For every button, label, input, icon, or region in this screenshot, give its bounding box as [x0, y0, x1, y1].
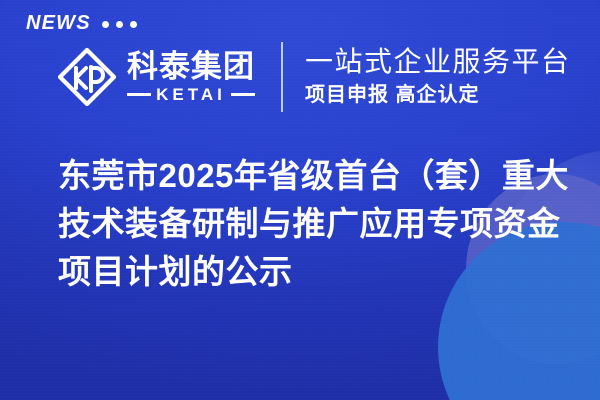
- wordmark-rule-left: [127, 93, 151, 96]
- headline-line-3: 项目计划的公示: [58, 248, 568, 296]
- bullet-dot-icon: [102, 21, 109, 28]
- brand-name-en: KETAI: [156, 86, 226, 103]
- wordmark-rule-right: [231, 93, 255, 96]
- vertical-divider: [281, 42, 283, 112]
- brand-name-cn: 科泰集团: [127, 51, 255, 84]
- headline-line-1: 东莞市2025年省级首台（套）重大: [58, 152, 568, 200]
- tagline: 一站式企业服务平台 项目申报 高企认定: [305, 46, 571, 108]
- bullet-dot-icon: [130, 21, 137, 28]
- brand-name-en-row: KETAI: [127, 86, 255, 103]
- ketai-diamond-logo-icon: [55, 45, 119, 109]
- tagline-sub: 项目申报 高企认定: [305, 82, 571, 108]
- kicker-dots: [102, 21, 137, 28]
- brand-wordmark: 科泰集团 KETAI: [127, 51, 255, 103]
- news-kicker-label: NEWS: [26, 13, 91, 33]
- brand-header: 科泰集团 KETAI 一站式企业服务平台 项目申报 高企认定: [55, 42, 571, 112]
- bullet-dot-icon: [116, 21, 123, 28]
- news-banner: NEWS 科泰集团 KETAI: [0, 0, 600, 400]
- page-title: 东莞市2025年省级首台（套）重大 技术装备研制与推广应用专项资金 项目计划的公…: [58, 152, 568, 296]
- news-kicker: NEWS: [26, 13, 137, 33]
- tagline-main: 一站式企业服务平台: [305, 46, 571, 78]
- headline-line-2: 技术装备研制与推广应用专项资金: [58, 200, 568, 248]
